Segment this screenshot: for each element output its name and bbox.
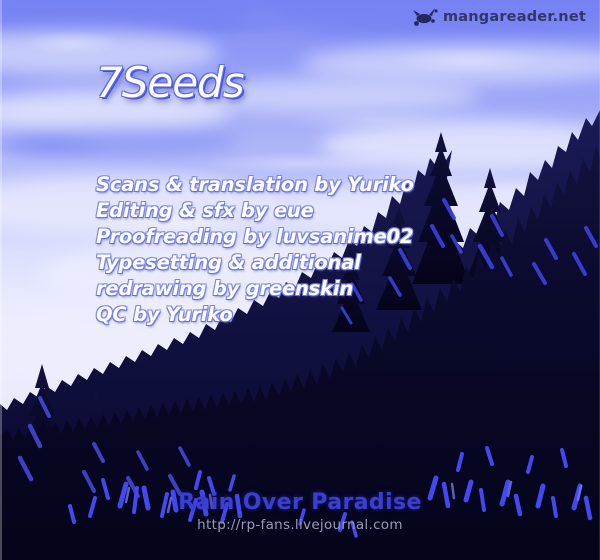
mangareader-logo-icon xyxy=(413,7,439,27)
scanlation-group-name: Rain Over Paradise xyxy=(0,490,600,515)
credit-line-typesetting: Typesetting & additional xyxy=(96,250,496,276)
page-title: 7Seeds xyxy=(96,58,244,107)
mangareader-logo-text: mangareader.net xyxy=(443,9,586,25)
credit-line-qc: QC by Yuriko xyxy=(96,302,496,328)
credit-line-editing: Editing & sfx by eue xyxy=(96,198,496,224)
scanlation-group-url: http://rp-fans.livejournal.com xyxy=(0,517,600,533)
mangareader-watermark[interactable]: mangareader.net xyxy=(413,7,586,27)
credit-line-redrawing: redrawing by greenskin xyxy=(96,276,496,302)
credits-page: 7Seeds Scans & translation by Yuriko Edi… xyxy=(0,0,600,560)
credits-block: Scans & translation by Yuriko Editing & … xyxy=(96,172,496,328)
credit-line-proofreading: Proofreading by luvsanime02 xyxy=(96,224,496,250)
credit-line-scans: Scans & translation by Yuriko xyxy=(96,172,496,198)
